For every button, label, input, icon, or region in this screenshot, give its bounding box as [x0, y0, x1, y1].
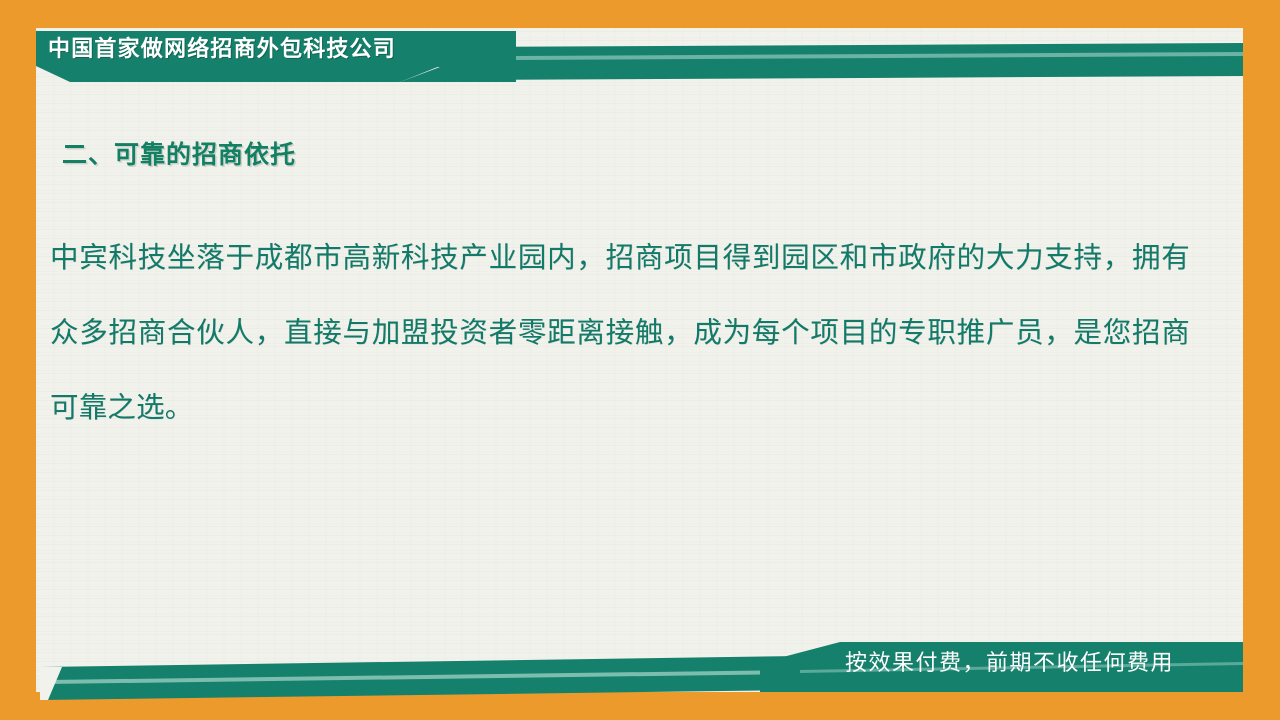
header-title: 中国首家做网络招商外包科技公司: [48, 35, 396, 63]
section-heading: 二、可靠的招商依托: [62, 135, 296, 171]
main-content: 二、可靠的招商依托 中宾科技坐落于成都市高新科技产业园内，招商项目得到园区和市政…: [36, 95, 1243, 635]
footer-tagline: 按效果付费，前期不收任何费用: [845, 648, 1174, 678]
body-paragraph: 中宾科技坐落于成都市高新科技产业园内，招商项目得到园区和市政府的大力支持，拥有众…: [50, 221, 1190, 446]
slide-root: 中国首家做网络招商外包科技公司 二、可靠的招商依托 中宾科技坐落于成都市高新科技…: [0, 0, 1280, 720]
